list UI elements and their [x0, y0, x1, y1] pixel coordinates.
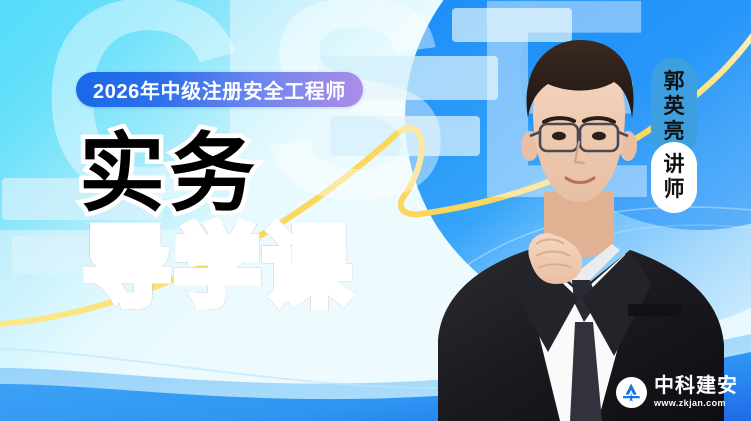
- brand-name: 中科建安: [654, 376, 738, 397]
- instructor-role-pill: 讲 师: [651, 142, 697, 213]
- zkjan-logo-icon: [616, 377, 647, 408]
- brand-url: www.zkjan.com: [654, 397, 738, 409]
- page-title: 实务 导学课: [79, 130, 409, 312]
- headline-line-2: 导学课: [84, 224, 409, 312]
- instructor-name-char-3: 亮: [651, 119, 697, 144]
- headline-line-1: 实务: [79, 130, 409, 218]
- instructor-label-group: 郭 英 亮 讲 师: [651, 58, 697, 213]
- brand-logo[interactable]: 中科建安 www.zkjan.com: [616, 376, 738, 409]
- brand-text-group: 中科建安 www.zkjan.com: [654, 376, 738, 409]
- course-subtitle-badge: 2026年中级注册安全工程师: [76, 72, 363, 107]
- course-promo-poster: CSE: [0, 0, 751, 421]
- instructor-name-char-2: 英: [651, 94, 697, 119]
- instructor-role-char-1: 讲: [651, 152, 697, 177]
- instructor-name-char-1: 郭: [651, 69, 697, 94]
- instructor-role-char-2: 师: [651, 177, 697, 202]
